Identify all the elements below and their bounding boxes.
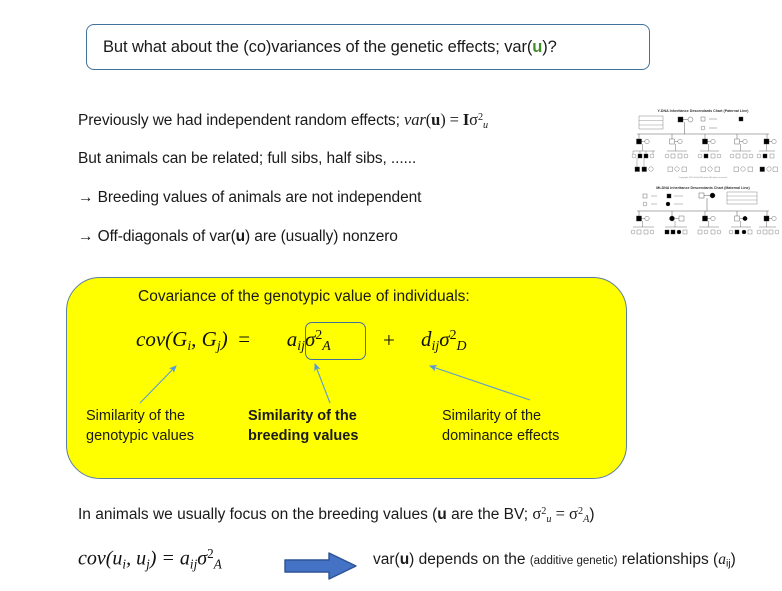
concl-end: ): [731, 551, 736, 568]
cov-mid: , G: [191, 327, 217, 351]
covariance-formula-lhs: cov(Gi, Gj) = aijσ2A: [136, 327, 331, 354]
yellow-box-heading: Covariance of the genotypic value of ind…: [138, 288, 470, 306]
bottom-bold-u: u: [437, 506, 446, 523]
conclusion-text: var(u) depends on the (additive genetic)…: [373, 551, 736, 570]
label-dominance-line2: dominance effects: [442, 428, 559, 444]
offdiag-prefix: → Off-diagonals of var(: [78, 228, 236, 245]
cov-equals: =: [238, 327, 250, 351]
bf-sigma: σ: [197, 548, 207, 570]
bottom-sigma2: σ: [569, 504, 578, 523]
title-prefix: But what about the (co)variances of the …: [103, 38, 532, 56]
offdiag-suffix: ) are (usually) nonzero: [245, 228, 398, 245]
bottom-prefix: In animals we usually focus on the breed…: [78, 506, 437, 523]
bf-mid: , u: [126, 548, 146, 570]
body-line-offdiagonals-nonzero: → Off-diagonals of var(u) are (usually) …: [78, 228, 398, 246]
dominance-term: dijσ2D: [421, 327, 467, 354]
dom-sigma: σ: [439, 327, 449, 351]
label-genotypic-line1: Similarity of the: [86, 408, 185, 424]
pedigree-caption-bottom: Mt-DNA Inheritance Descendants Chart (Ma…: [656, 186, 750, 190]
boxed-additive-term-outline: [305, 322, 366, 360]
concl-suffix: relationships (: [617, 551, 718, 568]
math-eq: ) =: [440, 110, 463, 129]
dom-d: d: [421, 327, 432, 351]
yellow-callout-box: [66, 277, 627, 479]
bf-cov: cov(u: [78, 548, 122, 570]
svg-text:Copyright 2010 Kelly Wheaton.: Copyright 2010 Kelly Wheaton. All rights…: [679, 176, 728, 179]
math-bold-u: u: [431, 110, 440, 129]
bf-a: a: [180, 548, 190, 570]
bottom-mid: are the BV;: [447, 506, 533, 523]
label-dominance-line1: Similarity of the: [442, 408, 541, 424]
boxed-a-sub: ij: [297, 338, 305, 353]
dom-sigma-sub: D: [457, 338, 467, 353]
concl-bold-u: u: [400, 551, 409, 568]
math-sigma: σ: [469, 110, 478, 129]
concl-mid: ) depends on the: [409, 551, 530, 568]
body-line-animals-related: But animals can be related; full sibs, h…: [78, 150, 416, 168]
label-dominance-effects: Similarity of thedominance effects: [442, 406, 559, 446]
dom-sigma-sup: 2: [450, 327, 457, 342]
concl-a-italic: a: [718, 551, 726, 568]
label-genotypic-values: Similarity of thegenotypic values: [86, 406, 194, 446]
math-sigma-sub: u: [483, 120, 488, 131]
title-callout-box: But what about the (co)variances of the …: [86, 24, 650, 70]
bottom-breeding-values-line: In animals we usually focus on the breed…: [78, 504, 594, 525]
bf-close: ) =: [150, 548, 180, 570]
formula-plus-sign: +: [383, 328, 395, 353]
title-suffix: )?: [542, 38, 556, 56]
label-breeding-line1: Similarity of the: [248, 408, 357, 424]
bottom-covariance-formula: cov(ui, uj) = aijσ2A: [78, 546, 222, 572]
bf-sigma-sub: A: [214, 556, 222, 571]
concl-prefix: var(: [373, 551, 400, 568]
body-line-1-prefix: Previously we had independent random eff…: [78, 112, 404, 129]
offdiag-bold-u: u: [236, 228, 245, 245]
label-genotypic-line2: genotypic values: [86, 428, 194, 444]
bottom-suffix: ): [589, 506, 594, 523]
bf-sigma-sup: 2: [207, 546, 214, 561]
cov-end: ): [221, 327, 228, 351]
body-line-breeding-not-independent: → Breeding values of animals are not ind…: [78, 189, 421, 207]
body-line-previous-effects: Previously we had independent random eff…: [78, 110, 488, 131]
label-breeding-values: Similarity of thebreeding values: [248, 406, 358, 446]
concl-small-note: (additive genetic): [530, 555, 618, 567]
title-text: But what about the (co)variances of the …: [87, 38, 557, 57]
boxed-a: a: [287, 327, 298, 351]
math-var: var: [404, 110, 426, 129]
pedigree-caption-top: Y-DNA Inheritance Descendants Chart (Pat…: [658, 109, 750, 113]
pedigree-chart-image: Y-DNA Inheritance Descendants Chart (Pat…: [627, 103, 780, 240]
bottom-sigma1: σ: [532, 504, 541, 523]
slide-canvas: But what about the (co)variances of the …: [0, 0, 782, 591]
pedigree-svg: Y-DNA Inheritance Descendants Chart (Pat…: [627, 103, 780, 240]
right-block-arrow-svg: [283, 551, 359, 581]
cov-lhs: cov(G: [136, 327, 187, 351]
title-highlight-u: u: [532, 38, 542, 56]
right-block-arrow: [283, 551, 359, 581]
bottom-equals: =: [551, 504, 569, 523]
label-breeding-line2: breeding values: [248, 428, 358, 444]
